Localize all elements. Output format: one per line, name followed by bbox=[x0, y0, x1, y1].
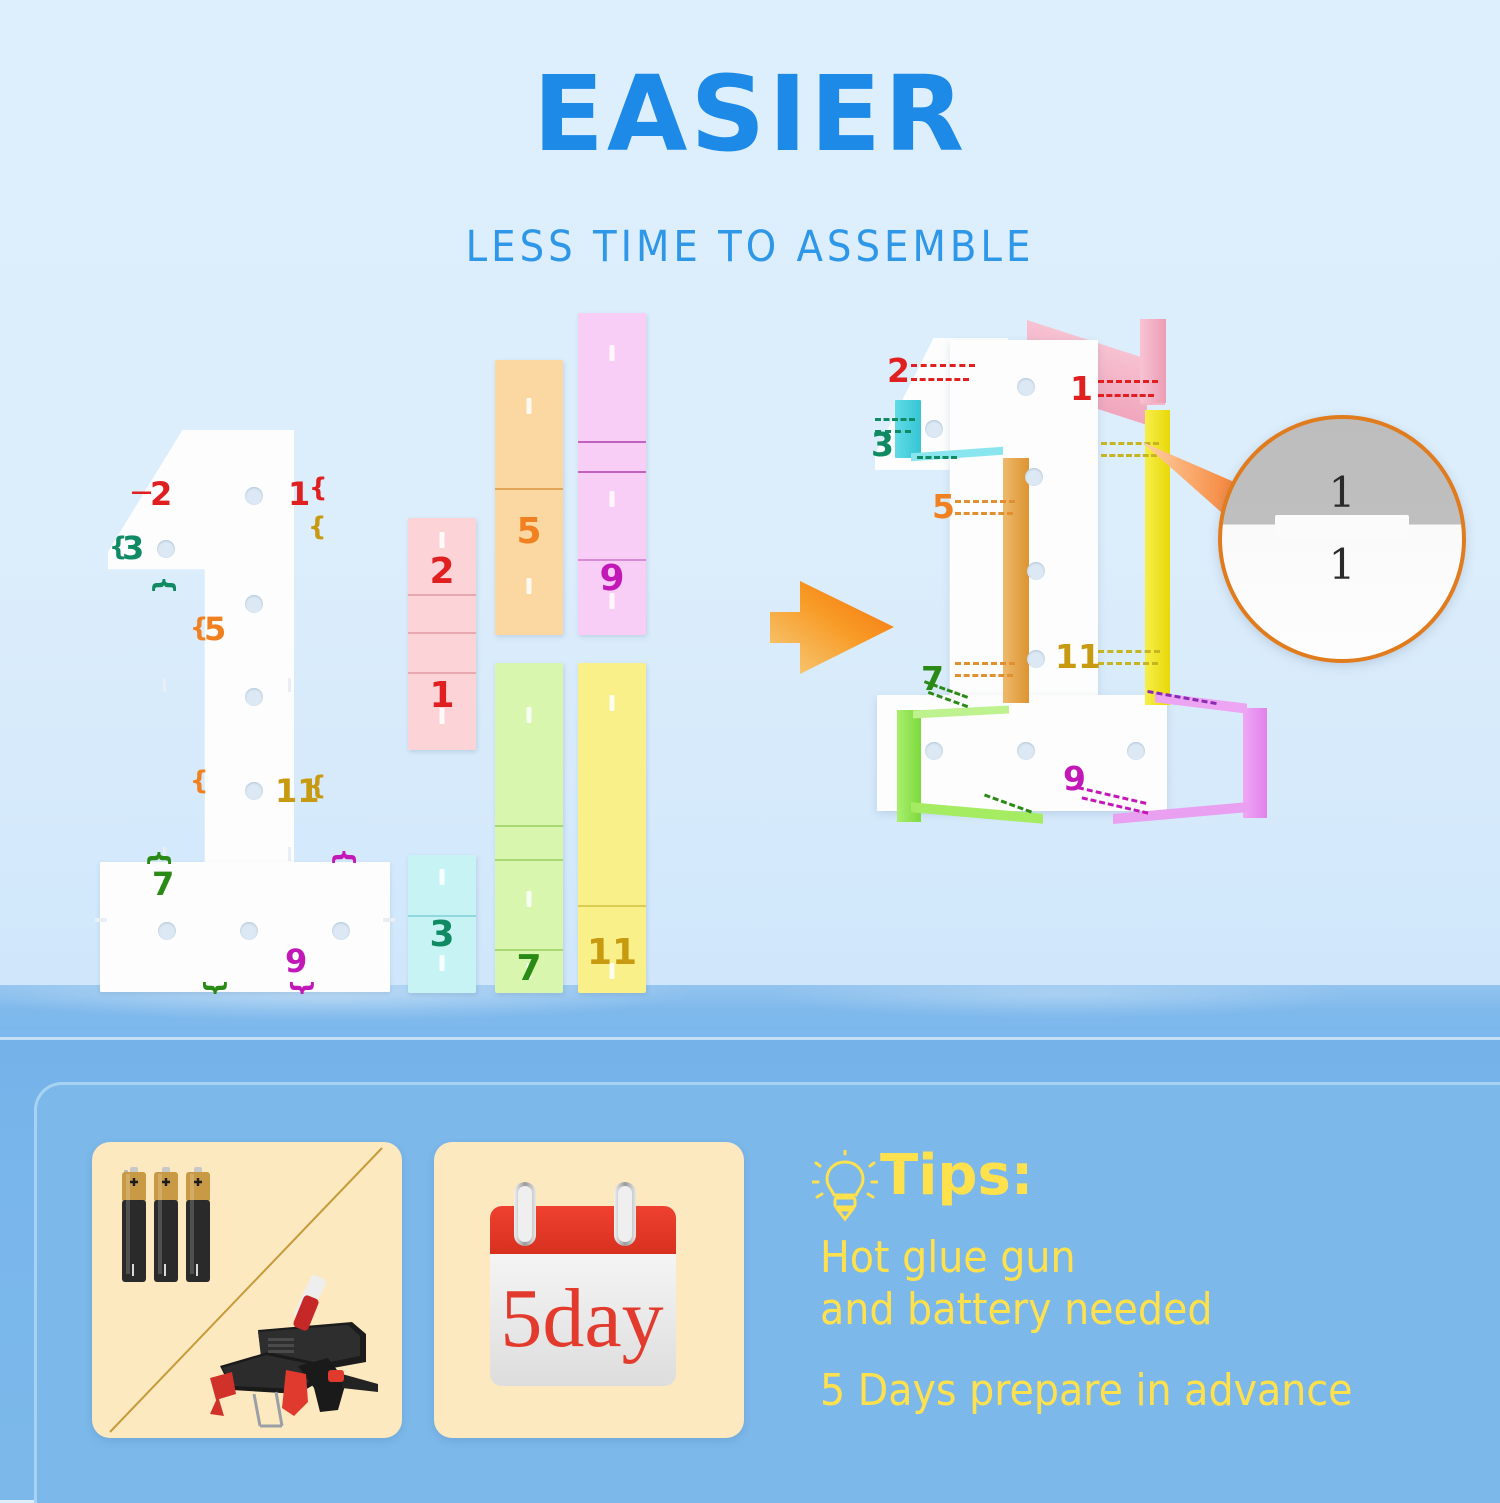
callout-5: 5 bbox=[932, 490, 955, 523]
assembled-number-one: 2 1 3 5 11 7 9 bbox=[855, 310, 1305, 1030]
strip-label-7: 7 bbox=[495, 951, 563, 987]
flat-number-one-panel: ⚊ 2 1 { { 3 { { 5 { 11 { { { 7 { { 9 { bbox=[100, 430, 400, 1000]
led-hole bbox=[1017, 742, 1035, 760]
leader-line-11b bbox=[1098, 662, 1158, 665]
glue-gun-icon bbox=[202, 1270, 392, 1435]
strip-slot bbox=[440, 869, 445, 885]
strip-slot bbox=[610, 491, 615, 507]
strip-orange: 5 bbox=[495, 360, 563, 635]
strip-green: 7 bbox=[495, 663, 563, 993]
led-hole bbox=[1017, 378, 1035, 396]
panel-label-2: 2 bbox=[150, 478, 172, 510]
led-hole bbox=[245, 782, 263, 800]
calendar-icon: 5day bbox=[470, 1164, 708, 1421]
led-hole bbox=[245, 688, 263, 706]
strip-violet: 9 bbox=[578, 313, 646, 635]
notch-marker-7b: { bbox=[201, 979, 227, 998]
led-hole bbox=[332, 922, 350, 940]
strip-slot bbox=[610, 345, 615, 361]
callout-9: 9 bbox=[1063, 762, 1086, 795]
led-hole bbox=[1025, 468, 1043, 486]
callout-2: 2 bbox=[887, 354, 910, 387]
leader-line-11 bbox=[1098, 650, 1160, 653]
strip-label-2: 2 bbox=[408, 554, 476, 590]
panel-label-5: 5 bbox=[204, 613, 226, 645]
callout-3: 3 bbox=[871, 428, 894, 461]
magnifier-label-top: 1 bbox=[1222, 472, 1462, 514]
strip-label-5: 5 bbox=[495, 514, 563, 550]
strip-slot bbox=[527, 707, 532, 723]
side-strip-1 bbox=[1140, 319, 1166, 403]
panel-label-1: 1 bbox=[288, 478, 310, 510]
infographic-stage: EASIER LESS TIME TO ASSEMBLE ⚊ 2 1 { { 3… bbox=[0, 0, 1500, 1500]
notch-marker-1: { bbox=[309, 475, 328, 501]
segment-divider bbox=[578, 905, 646, 907]
segment-divider bbox=[495, 825, 563, 827]
segment-divider bbox=[495, 859, 563, 861]
panel-label-9: 9 bbox=[285, 945, 307, 977]
notch-marker-5b: { bbox=[190, 768, 209, 794]
edge-slot bbox=[288, 847, 291, 861]
leader-line-1 bbox=[1098, 380, 1158, 383]
led-hole bbox=[157, 540, 175, 558]
segment-divider bbox=[408, 594, 476, 596]
strip-yellow: 11 bbox=[578, 663, 646, 993]
edge-slot bbox=[95, 918, 107, 922]
side-strip-3 bbox=[895, 400, 921, 458]
strip-pink: 2 1 bbox=[408, 518, 476, 750]
calendar-card: 5day bbox=[434, 1142, 744, 1438]
tips-line-1: Hot glue gun and battery needed bbox=[820, 1232, 1213, 1336]
tips-line-1b: and battery needed bbox=[820, 1284, 1213, 1336]
leader-line-5b bbox=[955, 512, 1013, 515]
segment-divider bbox=[495, 488, 563, 490]
notch-marker-9b: { bbox=[288, 979, 314, 998]
tab-detail-shape bbox=[1275, 515, 1409, 539]
led-hole bbox=[245, 487, 263, 505]
strip-slot bbox=[527, 891, 532, 907]
led-hole bbox=[1127, 742, 1145, 760]
strip-slot bbox=[527, 578, 532, 594]
leader-line-3 bbox=[875, 418, 915, 421]
strip-cyan: 3 bbox=[408, 855, 476, 993]
led-hole bbox=[240, 922, 258, 940]
led-hole bbox=[158, 922, 176, 940]
strip-label-9: 9 bbox=[578, 561, 646, 597]
notch-marker-11b: { bbox=[308, 514, 327, 540]
zoom-detail-circle: 1 1 bbox=[1218, 415, 1466, 663]
led-hole bbox=[925, 420, 943, 438]
led-hole bbox=[245, 595, 263, 613]
page-title: EASIER bbox=[0, 62, 1500, 166]
battery-and-gluegun-card bbox=[92, 1142, 402, 1438]
edge-slot bbox=[383, 918, 395, 922]
panel-label-3: 3 bbox=[122, 532, 144, 564]
tips-heading: Tips: bbox=[880, 1148, 1033, 1204]
led-hole bbox=[1027, 562, 1045, 580]
page-subtitle: LESS TIME TO ASSEMBLE bbox=[0, 222, 1500, 272]
callout-1: 1 bbox=[1070, 372, 1093, 405]
callout-7: 7 bbox=[921, 662, 944, 695]
floor-edge-line bbox=[0, 1037, 1500, 1040]
strip-label-11: 11 bbox=[578, 935, 646, 971]
notch-marker-11: { bbox=[308, 773, 327, 799]
leader-line-5 bbox=[955, 500, 1015, 503]
leader-line-3c bbox=[917, 456, 957, 459]
strip-label-3: 3 bbox=[408, 917, 476, 953]
magnifier-label-bottom: 1 bbox=[1222, 544, 1462, 586]
segment-divider bbox=[408, 632, 476, 634]
leader-line-2 bbox=[911, 364, 975, 367]
panel-label-7: 7 bbox=[152, 868, 174, 900]
leader-line-2b bbox=[911, 378, 969, 381]
strip-slot bbox=[440, 532, 445, 548]
callout-11: 11 bbox=[1055, 640, 1101, 673]
segment-divider bbox=[408, 672, 476, 674]
notch-marker-9: { bbox=[331, 848, 357, 867]
notch-marker-3b: { bbox=[151, 576, 177, 595]
leader-line-5c bbox=[955, 662, 1015, 665]
leader-line-1b bbox=[1098, 394, 1154, 397]
edge-slot bbox=[288, 678, 291, 692]
strip-slot bbox=[527, 398, 532, 414]
segment-divider bbox=[578, 471, 646, 473]
calendar-day-text: 5day bbox=[500, 1272, 663, 1365]
tips-line-1a: Hot glue gun bbox=[820, 1232, 1213, 1284]
led-hole bbox=[1027, 650, 1045, 668]
strip-slot bbox=[610, 695, 615, 711]
led-hole bbox=[925, 742, 943, 760]
edge-slot bbox=[163, 678, 166, 692]
strip-label-1: 1 bbox=[408, 678, 476, 714]
strip-slot bbox=[440, 955, 445, 971]
tips-line-2: 5 Days prepare in advance bbox=[820, 1365, 1352, 1417]
lightbulb-icon bbox=[812, 1150, 878, 1222]
leader-line-5d bbox=[955, 674, 1013, 677]
side-strip-5 bbox=[1003, 458, 1029, 703]
segment-divider bbox=[578, 441, 646, 443]
